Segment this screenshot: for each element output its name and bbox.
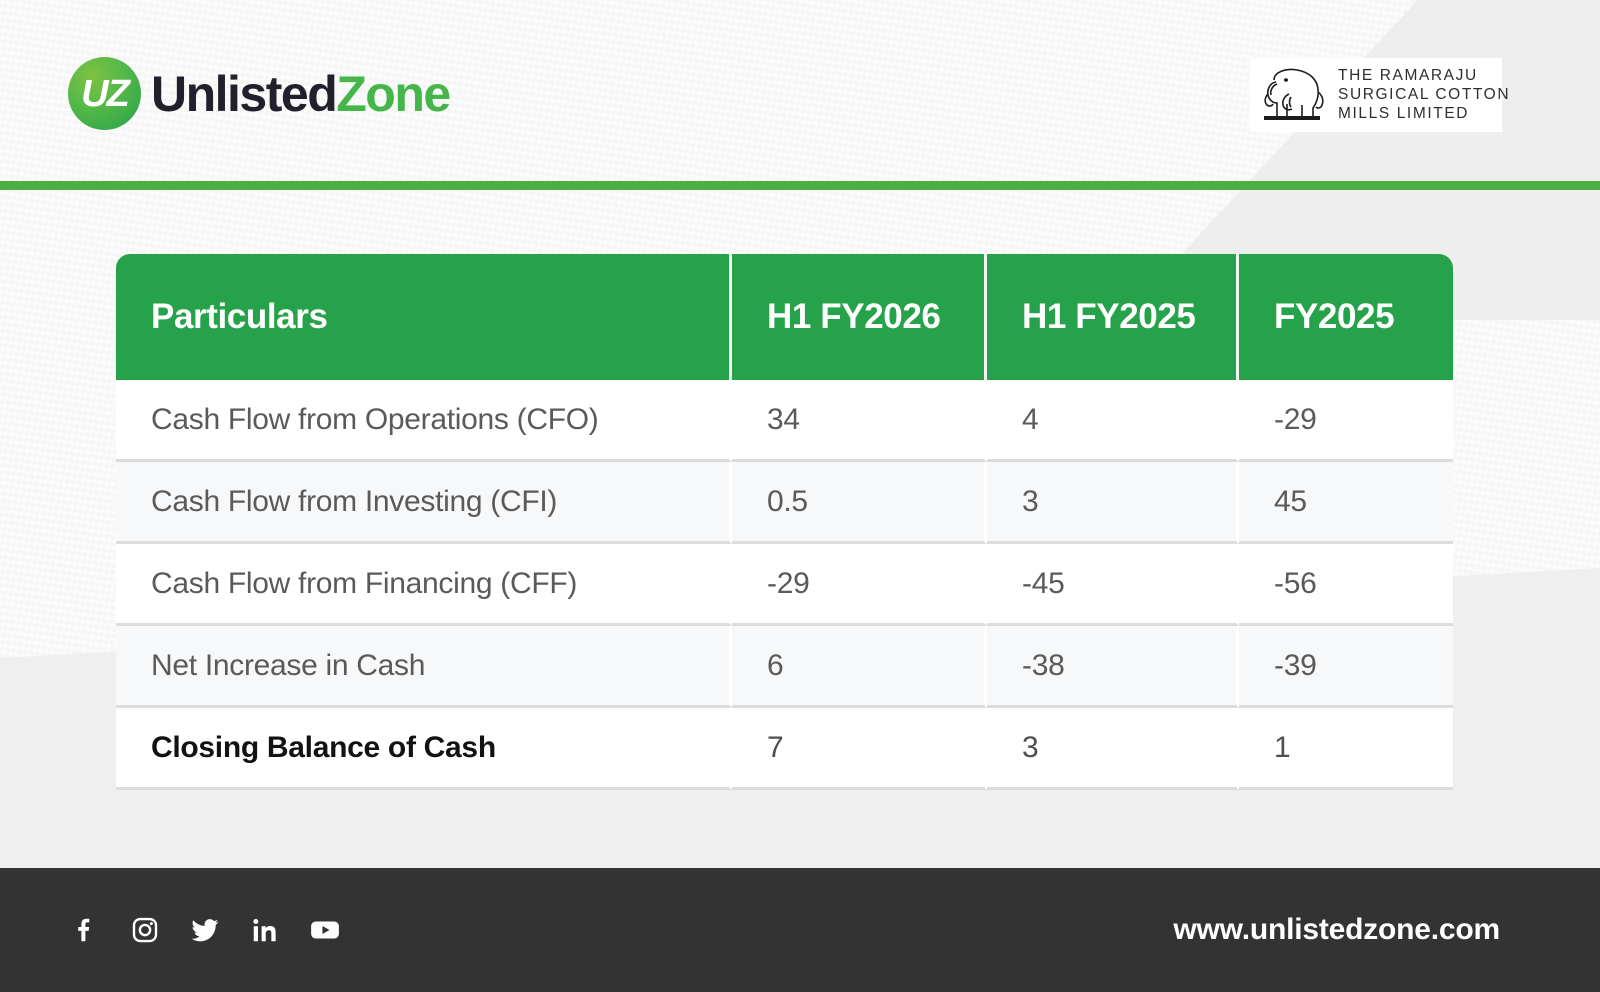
- brand-logo[interactable]: UZ UnlistedZone: [68, 57, 450, 130]
- twitter-icon[interactable]: [188, 913, 222, 947]
- row-label: Cash Flow from Investing (CFI): [116, 462, 732, 544]
- cash-flow-table: Particulars H1 FY2026 H1 FY2025 FY2025 C…: [116, 254, 1453, 790]
- table-header-row: Particulars H1 FY2026 H1 FY2025 FY2025: [116, 254, 1453, 380]
- table-row: Cash Flow from Operations (CFO) 34 4 -29: [116, 380, 1453, 462]
- table-row-total: Closing Balance of Cash 7 3 1: [116, 708, 1453, 790]
- cell-h1-fy2025: 3: [987, 708, 1239, 790]
- unlistedzone-logo-icon: UZ: [68, 57, 141, 130]
- elephant-icon: [1256, 64, 1328, 126]
- social-links: [68, 913, 342, 947]
- cell-h1-fy2026: -29: [732, 544, 987, 626]
- cell-fy2025: 1: [1239, 708, 1453, 790]
- facebook-icon[interactable]: [68, 913, 102, 947]
- column-header-fy2025: FY2025: [1239, 254, 1453, 380]
- company-name-line-2: SURGICAL COTTON: [1338, 86, 1510, 104]
- table-body: Cash Flow from Operations (CFO) 34 4 -29…: [116, 380, 1453, 790]
- cell-h1-fy2025: -45: [987, 544, 1239, 626]
- company-name-line-3: MILLS LIMITED: [1338, 105, 1510, 123]
- cell-fy2025: -39: [1239, 626, 1453, 708]
- cell-fy2025: 45: [1239, 462, 1453, 544]
- linkedin-icon[interactable]: [248, 913, 282, 947]
- row-label: Cash Flow from Financing (CFF): [116, 544, 732, 626]
- table-row: Cash Flow from Financing (CFF) -29 -45 -…: [116, 544, 1453, 626]
- cell-h1-fy2026: 7: [732, 708, 987, 790]
- website-url[interactable]: www.unlistedzone.com: [1173, 913, 1500, 947]
- slide-root: UZ UnlistedZone: [0, 0, 1600, 992]
- row-label: Cash Flow from Operations (CFO): [116, 380, 732, 462]
- company-name-lines: THE RAMARAJU SURGICAL COTTON MILLS LIMIT…: [1338, 67, 1510, 124]
- table-row: Net Increase in Cash 6 -38 -39: [116, 626, 1453, 708]
- header: UZ UnlistedZone: [0, 0, 1600, 181]
- table-row: Cash Flow from Investing (CFI) 0.5 3 45: [116, 462, 1453, 544]
- company-name-line-1: THE RAMARAJU: [1338, 67, 1510, 85]
- brand-mark-text: UZ: [68, 58, 141, 131]
- cell-h1-fy2025: -38: [987, 626, 1239, 708]
- instagram-icon[interactable]: [128, 913, 162, 947]
- column-header-h1-fy2026: H1 FY2026: [732, 254, 987, 380]
- cell-h1-fy2026: 6: [732, 626, 987, 708]
- cell-h1-fy2025: 4: [987, 380, 1239, 462]
- table-header: Particulars H1 FY2026 H1 FY2025 FY2025: [116, 254, 1453, 380]
- column-header-h1-fy2025: H1 FY2025: [987, 254, 1239, 380]
- brand-word-unlisted: Unlisted: [151, 66, 336, 122]
- company-logo: THE RAMARAJU SURGICAL COTTON MILLS LIMIT…: [1250, 58, 1502, 132]
- brand-word-zone: Zone: [336, 66, 449, 122]
- row-label: Net Increase in Cash: [116, 626, 732, 708]
- cell-h1-fy2025: 3: [987, 462, 1239, 544]
- footer: www.unlistedzone.com: [0, 868, 1600, 992]
- brand-wordmark: UnlistedZone: [151, 69, 450, 119]
- cell-h1-fy2026: 0.5: [732, 462, 987, 544]
- cell-fy2025: -29: [1239, 380, 1453, 462]
- row-label: Closing Balance of Cash: [116, 708, 732, 790]
- cell-h1-fy2026: 34: [732, 380, 987, 462]
- cash-flow-table-container: Particulars H1 FY2026 H1 FY2025 FY2025 C…: [116, 254, 1453, 790]
- cell-fy2025: -56: [1239, 544, 1453, 626]
- header-divider: [0, 181, 1600, 190]
- youtube-icon[interactable]: [308, 913, 342, 947]
- column-header-particulars: Particulars: [116, 254, 732, 380]
